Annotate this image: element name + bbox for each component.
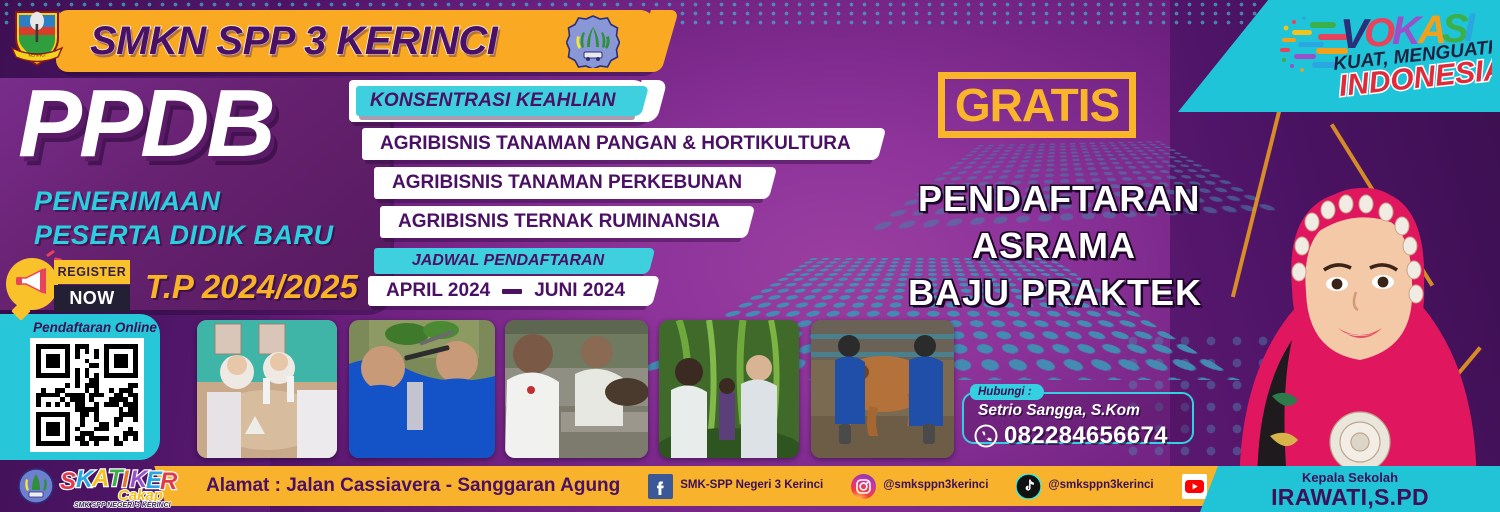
page-title: SMKN SPP 3 KERINCI — [90, 19, 497, 64]
photo-cattle-handling-students — [811, 320, 954, 458]
instagram-handle: @smksppn3kerinci — [883, 479, 988, 492]
contact-tag: Hubungi : — [970, 384, 1044, 400]
photo-plant-grafting-students — [349, 320, 495, 458]
phone-call-icon — [974, 424, 998, 448]
principal-caption-bar: Kepala Sekolah IRAWATI,S.PD — [1200, 466, 1500, 512]
schedule-end: JUNI 2024 — [534, 280, 625, 302]
contact-phone-number[interactable]: 082284656674 — [1004, 422, 1168, 450]
program-item-2: AGRIBISNIS TANAMAN PERKEBUNAN — [374, 167, 760, 199]
ppdb-expansion-line1: PENERIMAAN — [34, 186, 221, 217]
social-instagram[interactable]: @smksppn3kerinci — [851, 474, 988, 499]
date-range-dash-icon — [502, 289, 522, 294]
photo-plant-grafting-students-image — [349, 320, 495, 458]
principal-portrait-image — [1200, 96, 1500, 512]
skatiker-cakap-logo-icon: S K A T I K E R Cakap SMK SPP NEGERI 3 K… — [14, 462, 184, 510]
register-now-badge[interactable]: REGISTER NOW — [6, 254, 132, 316]
svg-text:KERINCI: KERINCI — [29, 53, 46, 58]
ppdb-banner: SMKN SPP 3 KERINCI KERINCI PPDB PENERIMA… — [0, 0, 1500, 512]
school-address: Alamat : Jalan Cassiavera - Sanggaran Ag… — [206, 475, 620, 497]
social-facebook[interactable]: SMK-SPP Negeri 3 Kerinci — [648, 474, 823, 499]
youtube-icon — [1182, 474, 1207, 499]
footer-bar: Alamat : Jalan Cassiavera - Sanggaran Ag… — [176, 466, 1296, 506]
qr-code[interactable] — [30, 338, 144, 452]
kemendikbud-tut-wuri-handayani-logo-icon — [566, 14, 620, 68]
qr-code-matrix — [36, 344, 138, 446]
programs-heading: KONSENTRASI KEAHLIAN — [356, 86, 632, 116]
photo-field-plantation-students-image — [659, 320, 799, 458]
schedule-start: APRIL 2024 — [386, 280, 490, 302]
svg-text:A: A — [91, 465, 109, 492]
schedule-dates: APRIL 2024 JUNI 2024 — [368, 276, 643, 306]
qr-label: Pendaftaran Online — [20, 320, 170, 335]
svg-text:SMK SPP NEGERI 3 KERINCI: SMK SPP NEGERI 3 KERINCI — [74, 502, 172, 509]
instagram-icon — [851, 474, 876, 499]
photo-livestock-cattle-students — [505, 320, 648, 458]
schedule-heading-wrap: JADWAL PENDAFTARAN — [374, 248, 642, 274]
free-item-3: BAJU PRAKTEK — [908, 272, 1202, 314]
principal-portrait — [1200, 96, 1500, 512]
principal-name: IRAWATI,S.PD — [1200, 485, 1500, 509]
tiktok-icon — [1016, 474, 1041, 499]
photo-cattle-handling-students-image — [811, 320, 954, 458]
svg-text:S: S — [60, 468, 76, 495]
free-item-2: ASRAMA — [972, 225, 1136, 267]
megaphone-icon — [14, 268, 54, 294]
free-item-1: PENDAFTARAN — [918, 178, 1200, 220]
now-label: NOW — [54, 285, 130, 312]
principal-role: Kepala Sekolah — [1200, 470, 1500, 485]
photo-livestock-cattle-students-image — [505, 320, 648, 458]
program-item-3: AGRIBISNIS TERNAK RUMINANSIA — [380, 206, 738, 238]
facebook-icon — [648, 474, 673, 499]
gratis-badge: GRATIS — [938, 72, 1136, 138]
schedule-heading: JADWAL PENDAFTARAN — [412, 252, 604, 270]
ppdb-expansion-line2: PESERTA DIDIK BARU — [34, 220, 334, 251]
photo-lab-practical-students-image — [197, 320, 337, 458]
photo-field-plantation-students — [659, 320, 799, 458]
ppdb-acronym: PPDB — [18, 80, 273, 168]
register-label: REGISTER — [54, 260, 130, 284]
vokasi-kuat-menguatkan-indonesia-logo-icon: V O K A S I KUAT, MENGUATKAN INDONESIA — [1278, 4, 1492, 104]
contact-person-name: Setrio Sangga, S.Kom — [978, 402, 1140, 420]
photo-lab-practical-students — [197, 320, 337, 458]
academic-year-label: T.P 2024/2025 — [145, 268, 358, 306]
tiktok-handle: @smksppn3kerinci — [1048, 479, 1153, 492]
social-tiktok[interactable]: @smksppn3kerinci — [1016, 474, 1153, 499]
gratis-label: GRATIS — [955, 78, 1119, 132]
facebook-handle: SMK-SPP Negeri 3 Kerinci — [680, 479, 823, 492]
kerinci-regency-emblem-icon: KERINCI — [4, 4, 70, 70]
program-item-1: AGRIBISNIS TANAMAN PANGAN & HORTIKULTURA — [362, 128, 869, 160]
